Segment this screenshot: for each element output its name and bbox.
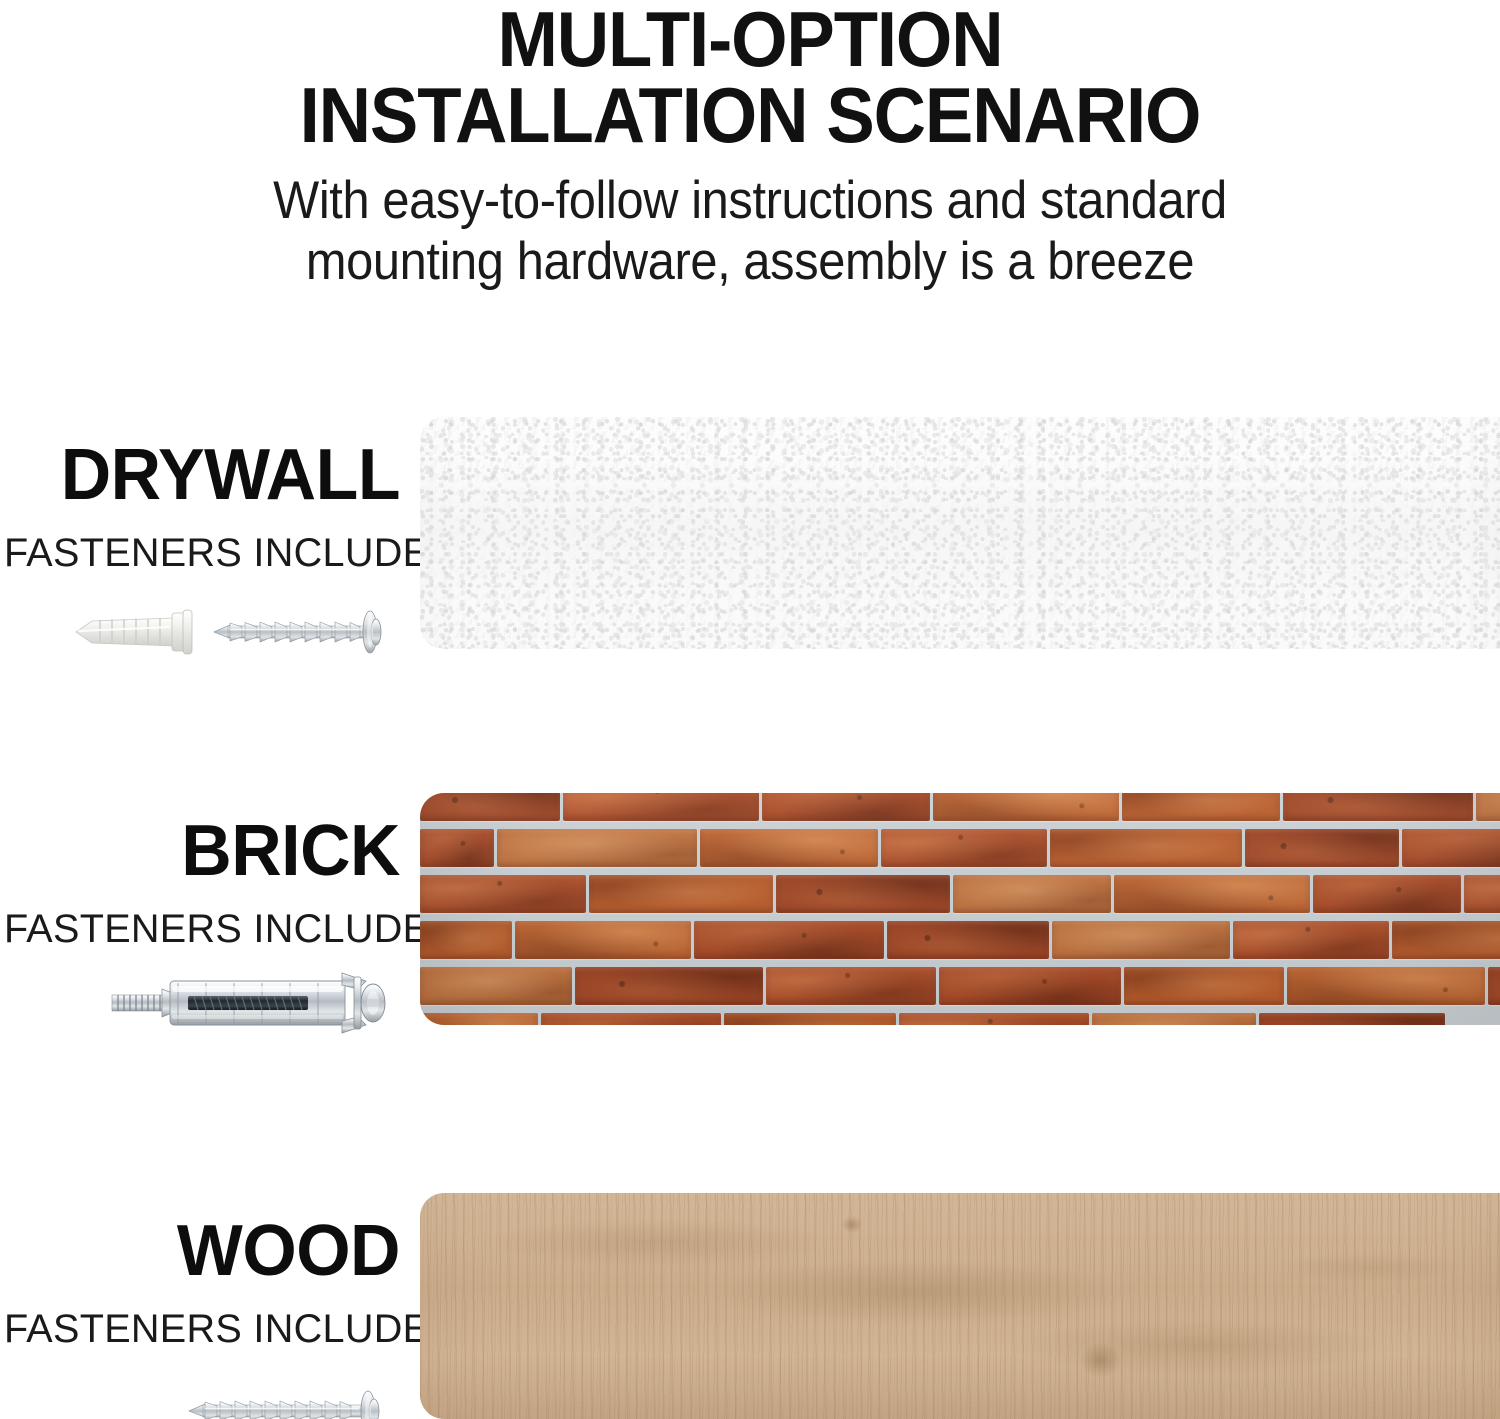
surface-name-wood: WOOD (12, 1215, 400, 1287)
surface-row-drywall: DRYWALL FASTENERS INCLUDED (0, 417, 1500, 649)
fasteners-note-drywall: FASTENERS INCLUDED (4, 533, 400, 573)
header-block: MULTI-OPTION INSTALLATION SCENARIO With … (0, 0, 1500, 292)
drywall-fasteners-group (70, 601, 400, 663)
metal-molly-hollow-wall-anchor-icon (112, 973, 385, 1033)
washer-head-wood-screw-icon (214, 611, 381, 653)
brick-label-column: BRICK FASTENERS INCLUDED (0, 793, 402, 1025)
drywall-label-column: DRYWALL FASTENERS INCLUDED (0, 417, 402, 649)
infographic-page: MULTI-OPTION INSTALLATION SCENARIO With … (0, 0, 1500, 1419)
drywall-fastener-art (0, 585, 400, 663)
wood-fasteners-group (185, 1383, 400, 1419)
fasteners-note-wood: FASTENERS INCLUDED (4, 1309, 400, 1349)
brick-fasteners-group (110, 967, 400, 1039)
page-subtitle: With easy-to-follow instructions and sta… (60, 171, 1440, 292)
drywall-texture-swatch (420, 417, 1500, 649)
washer-head-wood-screw-icon (189, 1391, 379, 1419)
surface-name-drywall: DRYWALL (12, 439, 400, 511)
page-subtitle-line-2: mounting hardware, assembly is a breeze (60, 232, 1440, 292)
page-title-line-1: MULTI-OPTION (53, 2, 1448, 78)
wood-label-column: WOOD FASTENERS INCLUDED (0, 1193, 402, 1419)
surface-row-wood: WOOD FASTENERS INCLUDED (0, 1193, 1500, 1419)
plastic-wall-anchor-icon (76, 610, 192, 654)
brick-pattern (420, 793, 1500, 1025)
page-title-line-2: INSTALLATION SCENARIO (53, 78, 1448, 154)
brick-texture-swatch (420, 793, 1500, 1025)
surface-name-brick: BRICK (12, 815, 400, 887)
brick-fastener-art (0, 961, 400, 1039)
wood-texture-swatch (420, 1193, 1500, 1419)
page-title: MULTI-OPTION INSTALLATION SCENARIO (53, 0, 1448, 153)
fasteners-note-brick: FASTENERS INCLUDED (4, 909, 400, 949)
surface-row-brick: BRICK FASTENERS INCLUDED (0, 793, 1500, 1025)
wood-fastener-art (0, 1361, 400, 1419)
page-subtitle-line-1: With easy-to-follow instructions and sta… (60, 171, 1440, 231)
